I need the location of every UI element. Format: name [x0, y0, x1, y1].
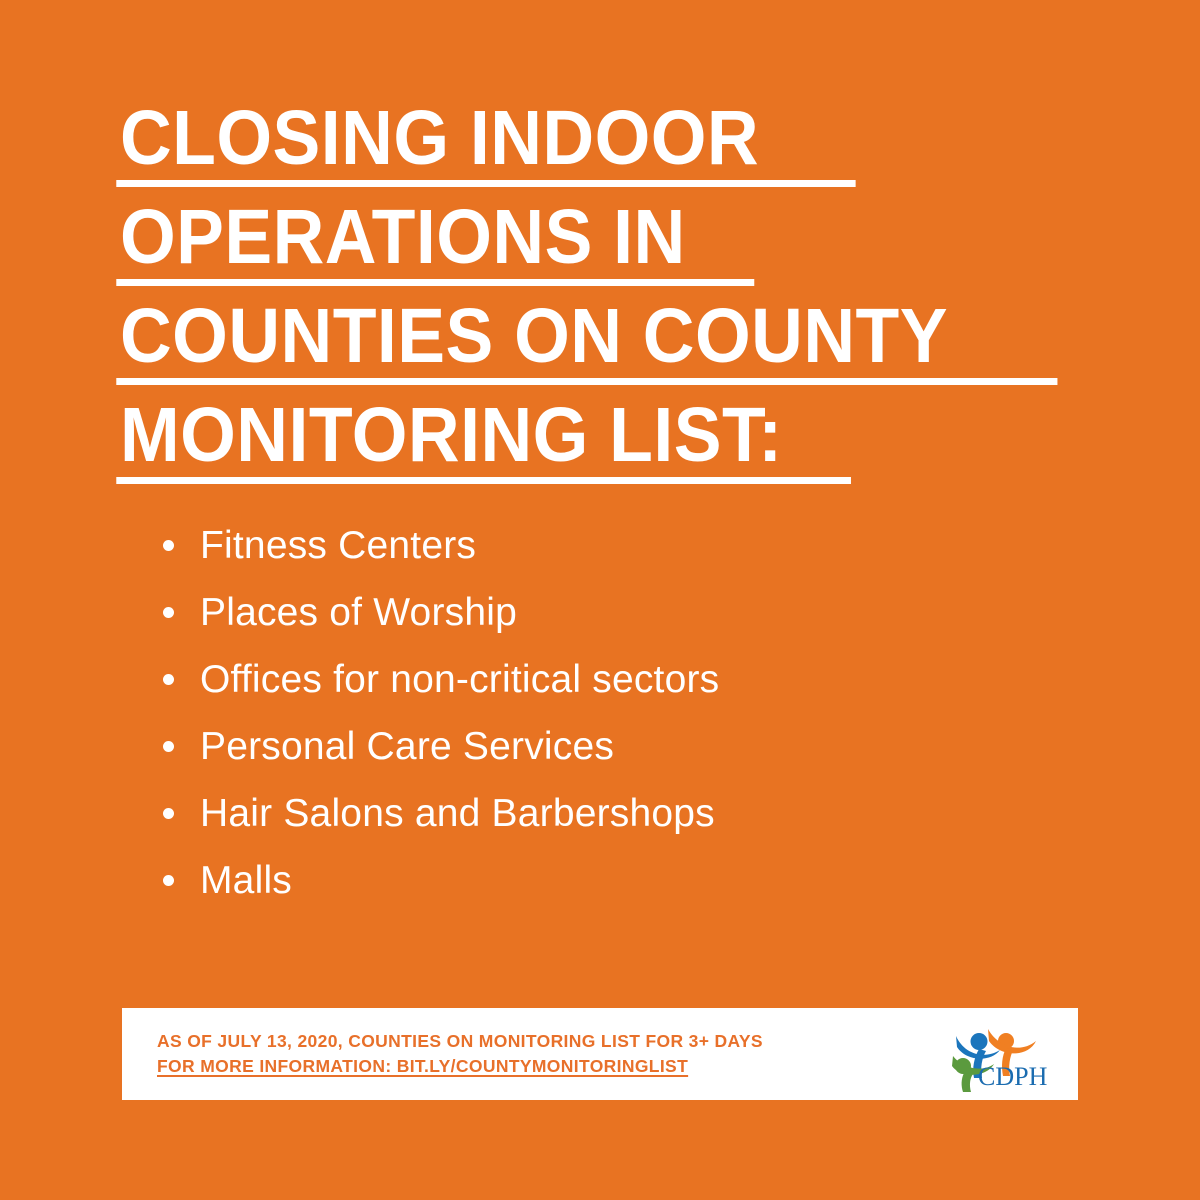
headline-line-1-text: CLOSING INDOOR — [120, 96, 759, 181]
footer-bar: AS OF JULY 13, 2020, COUNTIES ON MONITOR… — [122, 1008, 1078, 1100]
page-title: CLOSING INDOOR OPERATIONS IN COUNTIES ON… — [120, 96, 1120, 492]
headline-line-4: MONITORING LIST: — [120, 393, 1050, 484]
headline-underline-4 — [116, 477, 851, 484]
headline-line-2-text: OPERATIONS IN — [120, 195, 686, 280]
headline-line-4-text: MONITORING LIST: — [120, 393, 783, 478]
list-item-label: Malls — [200, 859, 292, 903]
bullet-dot-icon — [163, 540, 174, 551]
footer-text-block: AS OF JULY 13, 2020, COUNTIES ON MONITOR… — [157, 1029, 763, 1079]
headline-line-3: COUNTIES ON COUNTY — [120, 294, 1050, 385]
headline-line-3-text: COUNTIES ON COUNTY — [120, 294, 948, 379]
bullet-dot-icon — [163, 674, 174, 685]
bullet-dot-icon — [163, 741, 174, 752]
list-item-label: Hair Salons and Barbershops — [200, 792, 715, 836]
headline-line-2: OPERATIONS IN — [120, 195, 1050, 286]
cdph-logo: CDPH — [948, 1016, 1052, 1092]
headline-underline-3 — [116, 378, 1057, 385]
list-item: Malls — [155, 847, 1115, 914]
list-item-label: Offices for non-critical sectors — [200, 658, 719, 702]
list-item: Personal Care Services — [155, 713, 1115, 780]
list-item-label: Personal Care Services — [200, 725, 614, 769]
poster-canvas: CLOSING INDOOR OPERATIONS IN COUNTIES ON… — [0, 0, 1200, 1200]
headline-line-1: CLOSING INDOOR — [120, 96, 1050, 187]
list-item: Fitness Centers — [155, 512, 1115, 579]
footer-more-info-link[interactable]: FOR MORE INFORMATION: BIT.LY/COUNTYMONIT… — [157, 1054, 763, 1079]
list-item-label: Places of Worship — [200, 591, 517, 635]
headline-underline-1 — [116, 180, 855, 187]
bullet-dot-icon — [163, 875, 174, 886]
list-item: Offices for non-critical sectors — [155, 646, 1115, 713]
list-item: Places of Worship — [155, 579, 1115, 646]
closure-list: Fitness Centers Places of Worship Office… — [155, 512, 1115, 914]
bullet-dot-icon — [163, 808, 174, 819]
list-item: Hair Salons and Barbershops — [155, 780, 1115, 847]
bullet-dot-icon — [163, 607, 174, 618]
footer-asof-text: AS OF JULY 13, 2020, COUNTIES ON MONITOR… — [157, 1029, 763, 1054]
headline-underline-2 — [116, 279, 754, 286]
cdph-wordmark: CDPH — [978, 1062, 1048, 1091]
list-item-label: Fitness Centers — [200, 524, 476, 568]
